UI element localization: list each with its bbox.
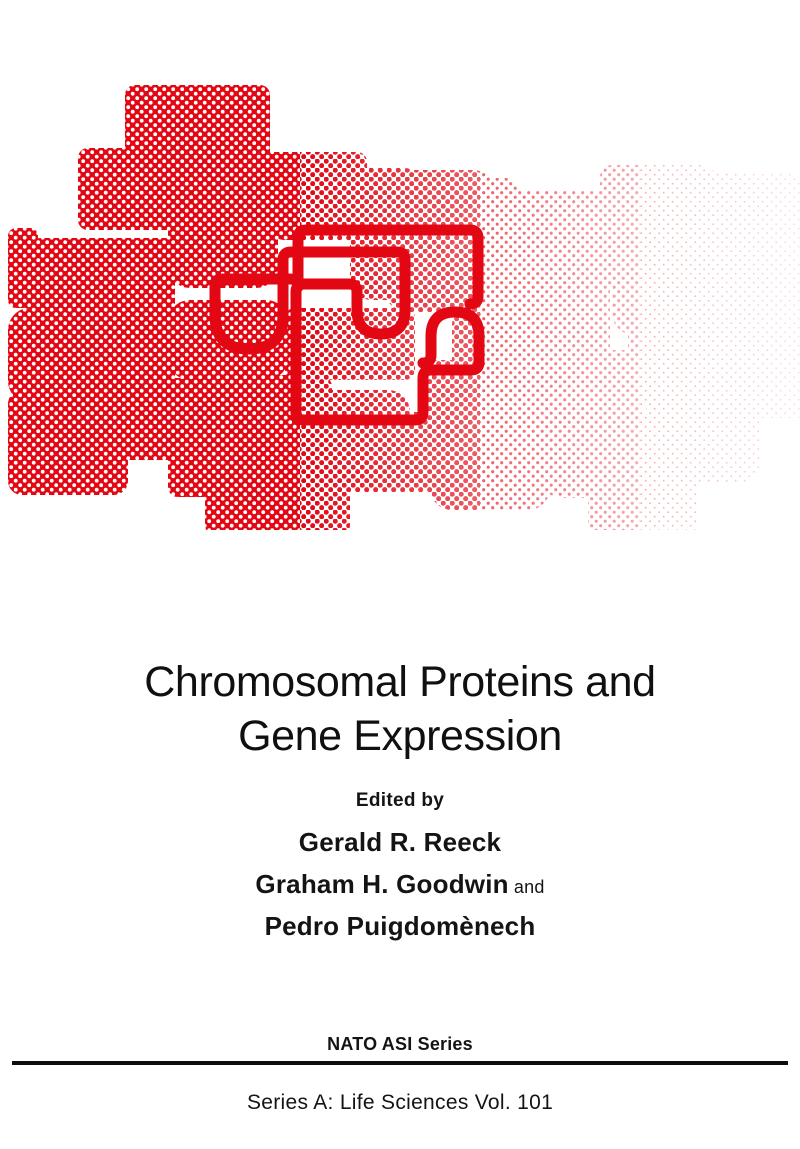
edited-by-label: Edited by (0, 790, 800, 812)
cover-artwork (0, 60, 800, 530)
series-divider (12, 1061, 788, 1065)
editor-name-text: Gerald R. Reeck (299, 827, 501, 857)
halftone-maze-graphic (0, 60, 800, 530)
page-title: Chromosomal Proteins and Gene Expression (0, 655, 800, 763)
title-line-2: Gene Expression (55, 709, 745, 763)
title-line-1: Chromosomal Proteins and (55, 655, 745, 709)
editors-block: Edited by Gerald R. Reeck Graham H. Good… (0, 790, 800, 951)
book-cover: Chromosomal Proteins and Gene Expression… (0, 0, 800, 1149)
editor-name-3: Pedro Puigdomènech (0, 910, 800, 944)
series-subtitle: Series A: Life Sciences Vol. 101 (0, 1091, 800, 1115)
editor-name-2: Graham H. Goodwin and (0, 868, 800, 902)
editor-conjunction: and (509, 877, 545, 897)
editor-name-text: Graham H. Goodwin (255, 869, 508, 899)
series-name: NATO ASI Series (0, 1034, 800, 1055)
editor-name-1: Gerald R. Reeck (0, 826, 800, 860)
title-block: Chromosomal Proteins and Gene Expression (0, 655, 800, 763)
editor-name-text: Pedro Puigdomènech (265, 911, 536, 941)
